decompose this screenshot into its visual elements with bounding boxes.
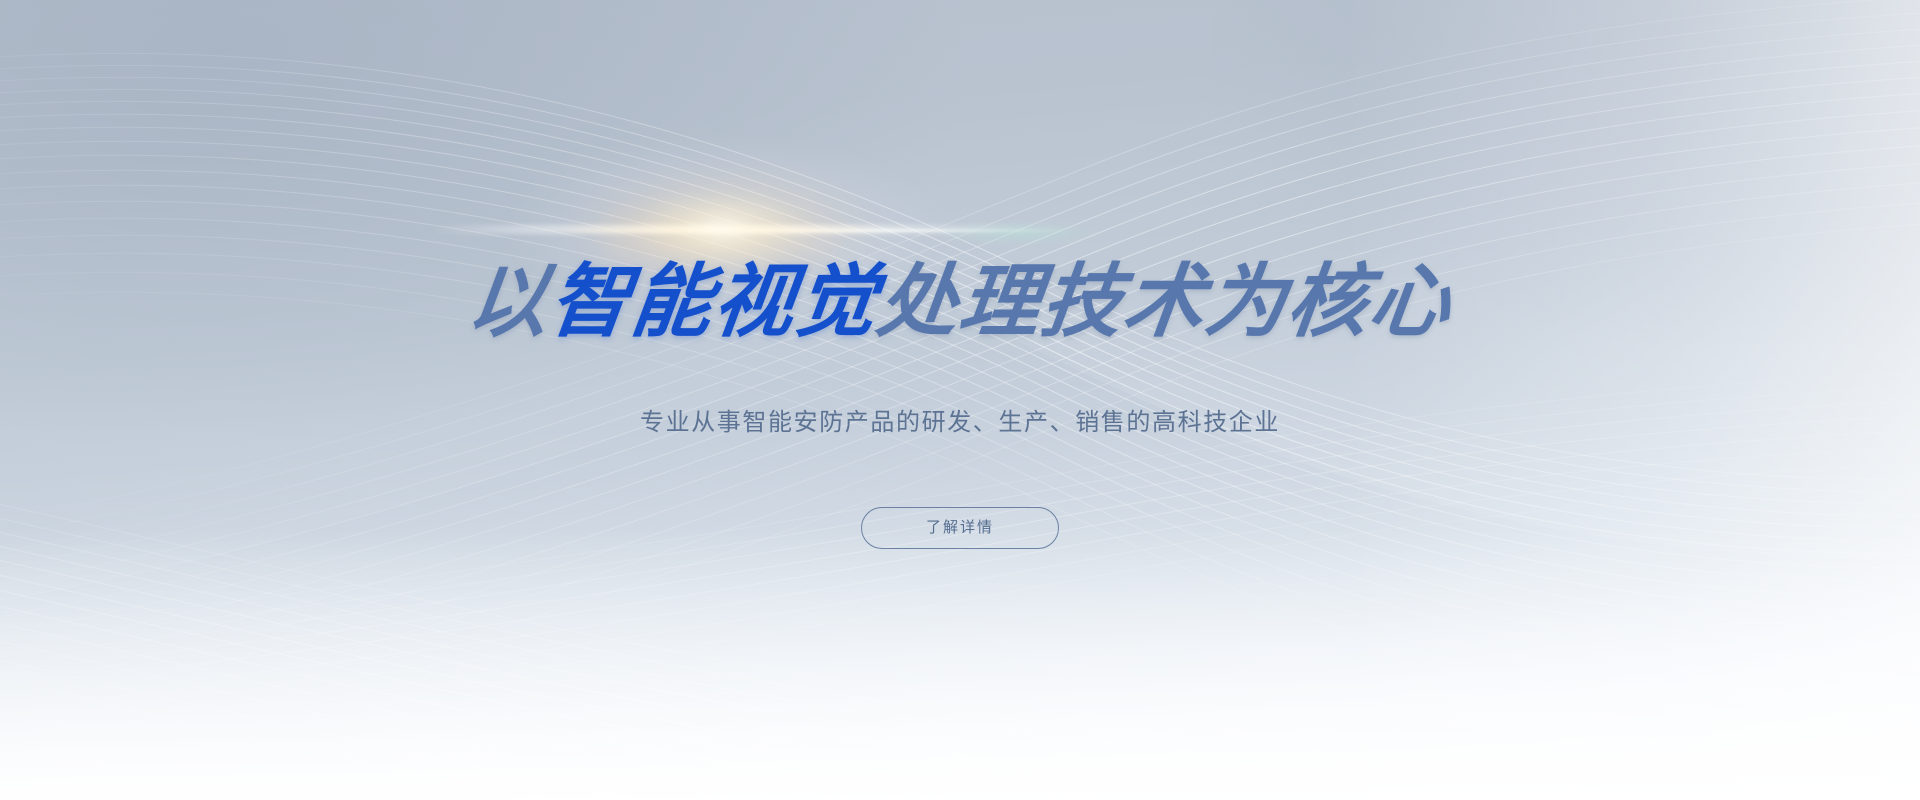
wave-shade-upper [0,133,1920,800]
flowing-line-wave-graphic [0,0,1920,800]
background-artwork [0,0,1920,800]
headline-segment-tail: 处理技术为核心 [872,255,1457,348]
page-title: 以智能视觉处理技术为核心 [0,262,1920,342]
headline-segment-lead: 以 [462,255,555,348]
lens-flare-streak [430,225,1070,234]
hero-banner: 以智能视觉处理技术为核心 专业从事智能安防产品的研发、生产、销售的高科技企业 了… [0,0,1920,800]
headline-segment-highlight: 智能视觉 [544,255,883,348]
cta-container: 了解详情 [0,507,1920,549]
lens-flare-streak-secondary [560,229,1080,232]
lens-flare-cool-tint [940,222,1100,244]
bottom-edge-wash [0,528,1920,800]
right-edge-wash [1344,0,1920,800]
page-subtitle: 专业从事智能安防产品的研发、生产、销售的高科技企业 [0,406,1920,440]
corner-shade-top-left [0,0,960,440]
learn-more-button[interactable]: 了解详情 [861,507,1059,549]
